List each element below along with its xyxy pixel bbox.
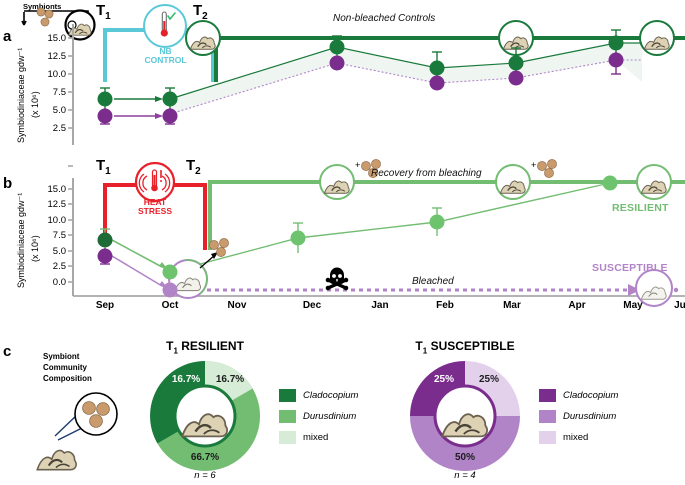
legend-green-swatch-durusdinium xyxy=(279,410,296,423)
panel-b-t1-sub: 1 xyxy=(105,166,111,177)
panel-a-t1-label: T1 xyxy=(96,2,111,22)
pie-resilient-slice-cladocopium-label: 16.7% xyxy=(164,374,208,385)
legend-purple-swatch-mixed xyxy=(539,431,556,444)
coral-icon-start-a xyxy=(66,11,95,40)
month-label-jun: Jun xyxy=(658,300,685,311)
panel-b-bleached-annotation: Bleached xyxy=(412,276,454,287)
legend-green-item-cladocopium: Cladocopium xyxy=(279,389,358,402)
month-label-may: May xyxy=(608,300,658,311)
panel-a-t1-letter: T xyxy=(96,2,105,19)
panel-a-tick-3: 7.5 xyxy=(28,87,66,98)
pie-susceptible-title-sub: 1 xyxy=(423,346,427,355)
pie-resilient-title-main: RESILIENT xyxy=(181,339,244,353)
panel-b-tick-3: 7.5 xyxy=(28,230,66,241)
month-label-jan: Jan xyxy=(355,300,405,311)
panel-c-letter: c xyxy=(3,343,11,360)
nb-control-label: NB CONTROL xyxy=(128,47,203,65)
svg-text:+: + xyxy=(355,160,360,170)
legend-purple-item-durusdinium: Durusdinium xyxy=(539,410,616,423)
panel-b-tick-0: 15.0 xyxy=(28,184,66,195)
month-label-mar: Mar xyxy=(487,300,537,311)
legend-green-swatch-mixed xyxy=(279,431,296,444)
panel-b-tick-1: 12.5 xyxy=(28,199,66,210)
panel-a-annotation: Non-bleached Controls xyxy=(333,13,435,24)
panel-a-tick-4: 5.0 xyxy=(28,105,66,116)
panel-a-t2-letter: T xyxy=(193,2,202,19)
panel-b-tick-2: 10.0 xyxy=(28,215,66,226)
pie-susceptible-title-main: SUSCEPTIBLE xyxy=(431,339,515,353)
outcome-susceptible-label: SUSCEPTIBLE xyxy=(592,262,668,274)
heat-stress-label: HEAT STRESS xyxy=(122,198,188,216)
pie-resilient-n: n = 6 xyxy=(180,470,230,481)
panel-b-tick-4: 5.0 xyxy=(28,246,66,257)
pie-susceptible-slice-cladocopium-label: 25% xyxy=(424,374,464,385)
panel-b-y-axis-title: Symbiodiniaceae gdw⁻¹ xyxy=(16,193,27,288)
month-label-oct: Oct xyxy=(145,300,195,311)
panel-a-t2-label: T2 xyxy=(193,2,208,22)
scc-caption: Symbiont Community Composition xyxy=(43,352,92,384)
outcome-resilient-label: RESILIENT xyxy=(612,202,669,214)
legend-purple-label-mixed: mixed xyxy=(563,432,588,443)
pie-resilient-title: T1 RESILIENT xyxy=(150,339,260,355)
panel-b-t1-label: T1 xyxy=(96,157,111,177)
scc-caption-line2: Community xyxy=(43,363,92,374)
pie-susceptible-slice-mixed-label: 25% xyxy=(469,374,509,385)
scc-caption-line1: Symbiont xyxy=(43,352,92,363)
legend-green-label-durusdinium: Durusdinium xyxy=(303,411,356,422)
pie-susceptible-n: n = 4 xyxy=(440,470,490,481)
legend-green-label-mixed: mixed xyxy=(303,432,328,443)
panel-b-recovery-annotation: Recovery from bleaching xyxy=(371,168,482,179)
nb-control-line2: CONTROL xyxy=(128,56,203,65)
month-label-nov: Nov xyxy=(212,300,262,311)
panel-a-t2-sub: 2 xyxy=(202,11,208,22)
pie-susceptible-slice-durusdinium-label: 50% xyxy=(445,452,485,463)
panel-a-tick-5: 2.5 xyxy=(28,123,66,134)
scc-callout xyxy=(37,393,117,470)
panel-a-tick-2: 10.0 xyxy=(28,69,66,80)
legend-purple-item-cladocopium: Cladocopium xyxy=(539,389,618,402)
panel-b-t1-letter: T xyxy=(96,157,105,174)
legend-purple-label-cladocopium: Cladocopium xyxy=(563,390,618,401)
pie-susceptible-title-t: T xyxy=(415,339,422,353)
legend-purple-swatch-cladocopium xyxy=(539,389,556,402)
legend-green-label-cladocopium: Cladocopium xyxy=(303,390,358,401)
panel-b-data xyxy=(98,176,679,307)
panel-b-letter: b xyxy=(3,175,12,192)
pie-resilient-slice-mixed-label: 16.7% xyxy=(208,374,252,385)
panel-b-tick-5: 2.5 xyxy=(28,261,66,272)
heat-stress-line2: STRESS xyxy=(122,207,188,216)
panel-a-tick-0: 15.0 xyxy=(28,33,66,44)
pie-susceptible-title: T1 SUSCEPTIBLE xyxy=(400,339,530,355)
scc-caption-line3: Composition xyxy=(43,374,92,385)
figure-root: a Symbionts xyxy=(0,0,685,485)
panel-b-tick-6: 0.0 xyxy=(28,277,66,288)
pie-resilient-title-sub: 1 xyxy=(173,346,177,355)
skull-and-crossbones-icon xyxy=(326,268,349,291)
month-label-sep: Sep xyxy=(80,300,130,311)
panel-a-tick-1: 12.5 xyxy=(28,51,66,62)
panel-a-data xyxy=(98,30,643,124)
panel-b-t2-letter: T xyxy=(186,157,195,174)
legend-green-swatch-cladocopium xyxy=(279,389,296,402)
panel-a-axes xyxy=(68,24,73,145)
legend-green-item-mixed: mixed xyxy=(279,431,328,444)
pie-resilient-slice-durusdinium-label: 66.7% xyxy=(183,452,227,463)
panel-a-t1-sub: 1 xyxy=(105,11,111,22)
legend-green-item-durusdinium: Durusdinium xyxy=(279,410,356,423)
legend-purple-swatch-durusdinium xyxy=(539,410,556,423)
panel-b-t2-sub: 2 xyxy=(195,166,201,177)
month-label-apr: Apr xyxy=(552,300,602,311)
legend-purple-label-durusdinium: Durusdinium xyxy=(563,411,616,422)
panel-b-t2-label: T2 xyxy=(186,157,201,177)
legend-purple-item-mixed: mixed xyxy=(539,431,588,444)
panel-a-y-axis-title: Symbiodiniaceae gdw⁻¹ xyxy=(16,48,27,143)
month-label-feb: Feb xyxy=(420,300,470,311)
svg-text:+: + xyxy=(531,160,536,170)
month-label-dec: Dec xyxy=(287,300,337,311)
